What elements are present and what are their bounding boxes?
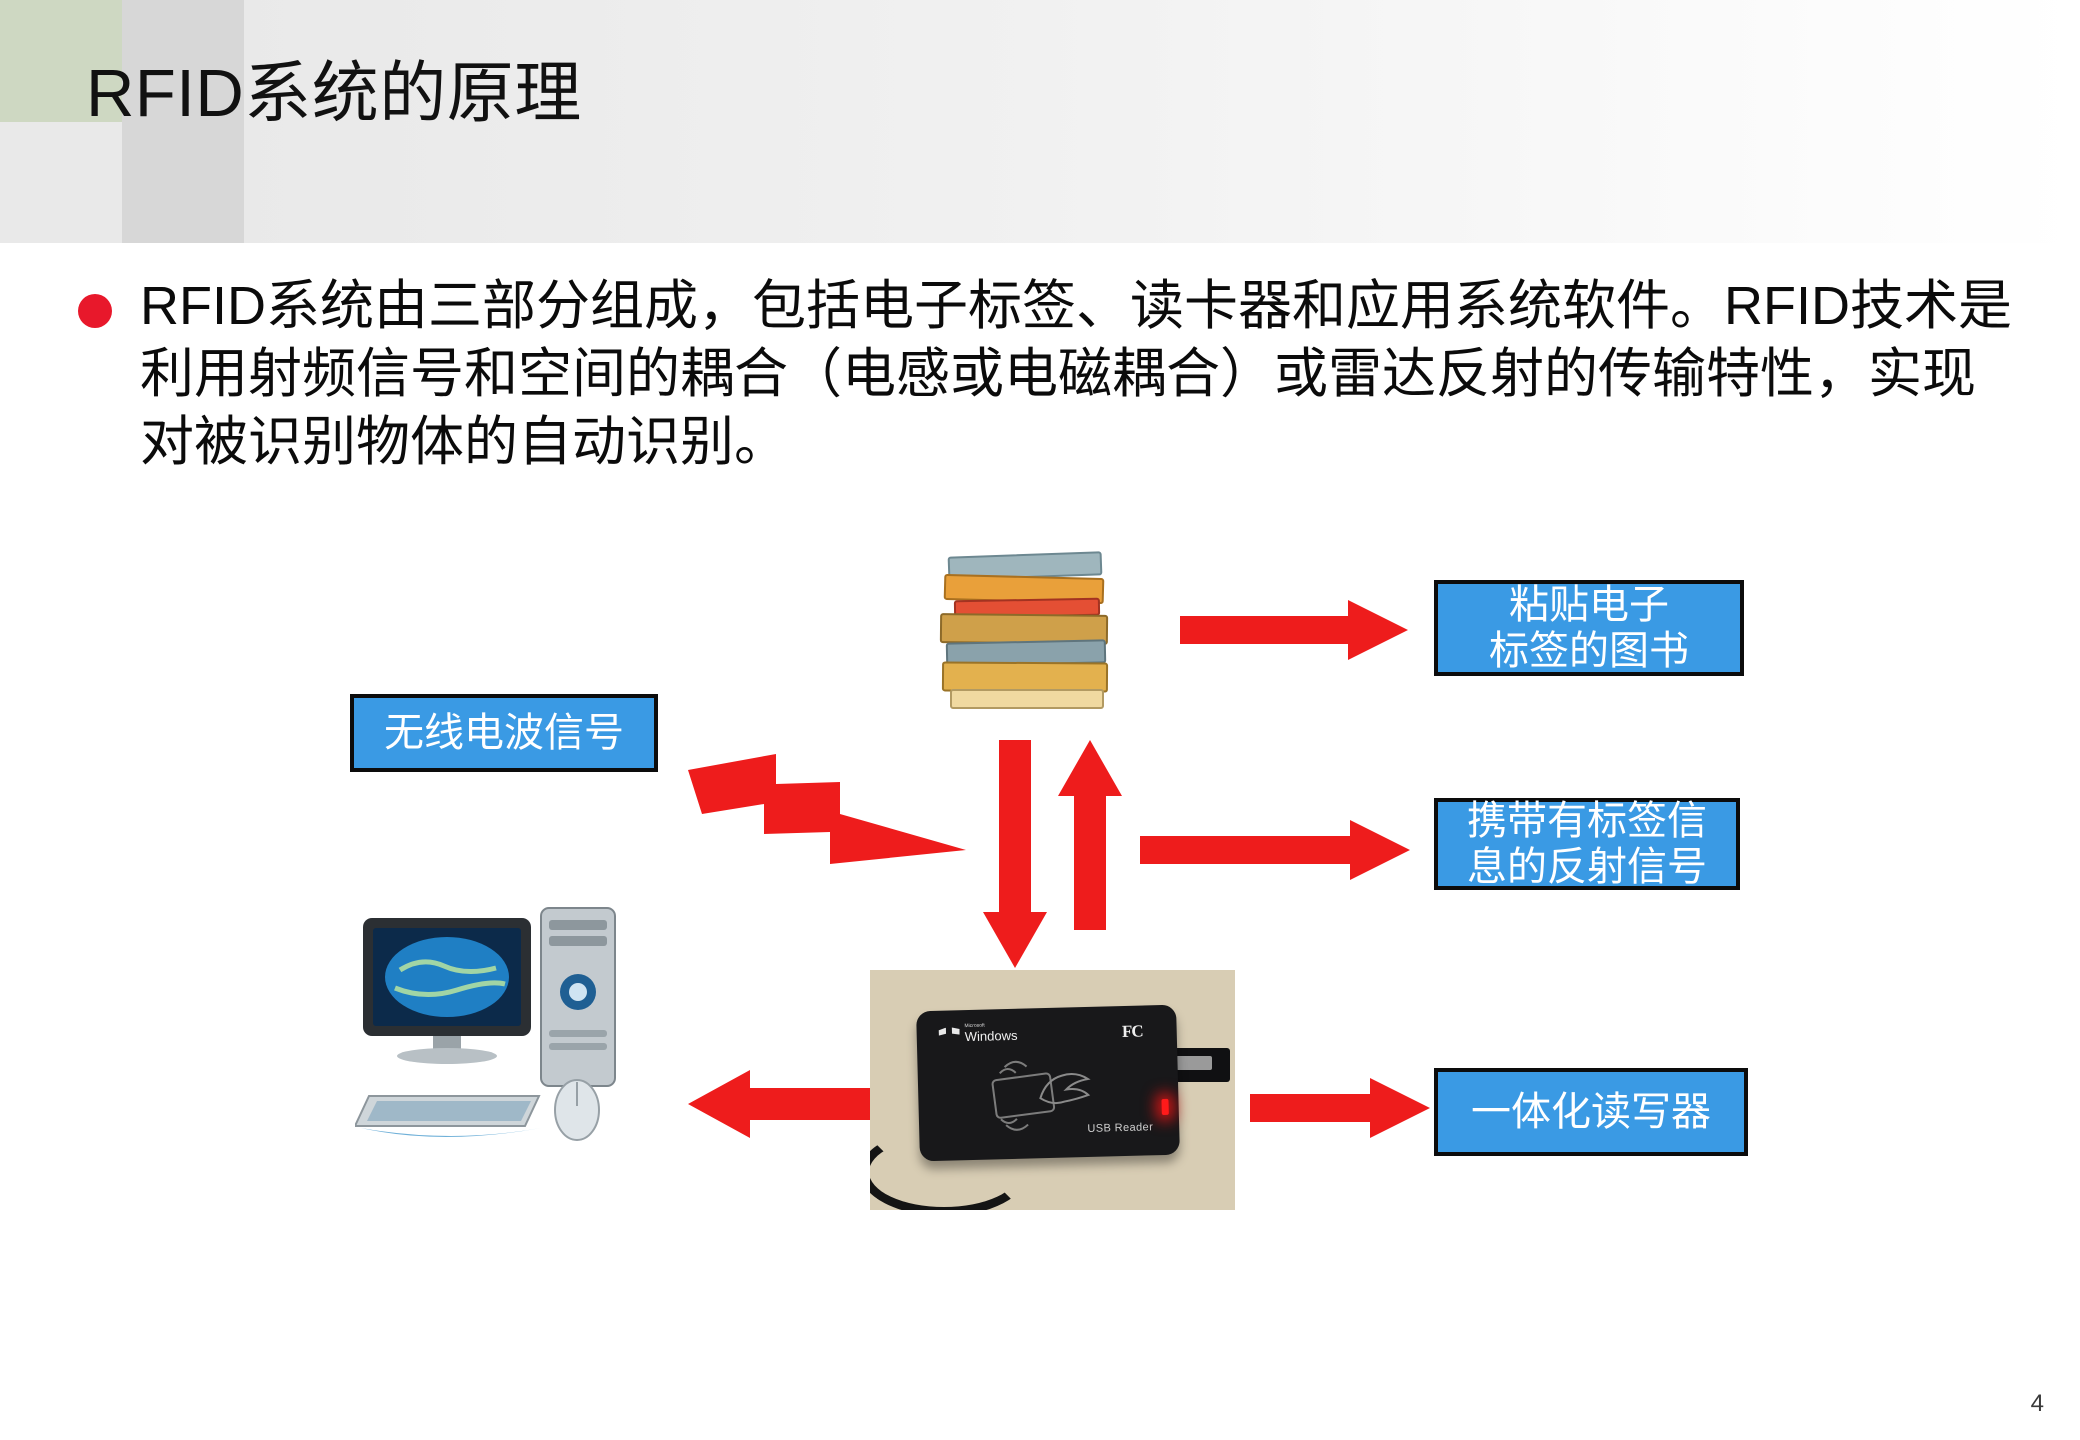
usb-rfid-reader-photo: Microsoft Windows FC USB Reader <box>870 970 1235 1210</box>
bullet-text-block: RFID系统由三部分组成，包括电子标签、读卡器和应用系统软件。RFID技术是 利… <box>140 272 2012 476</box>
windows-logo-icon: Microsoft Windows <box>938 1023 1017 1045</box>
label-line: 一体化读写器 <box>1471 1089 1711 1135</box>
label-line: 携带有标签信 <box>1467 798 1707 844</box>
bullet-paragraph: RFID系统由三部分组成，包括电子标签、读卡器和应用系统软件。RFID技术是 利… <box>78 272 2018 476</box>
bullet-line-3: 对被识别物体的自动识别。 <box>140 408 2012 476</box>
page-title: RFID系统的原理 <box>86 60 582 127</box>
windows-flag-right-icon <box>944 1027 960 1041</box>
rfid-card-hand-icon <box>987 1050 1109 1133</box>
book-7 <box>950 689 1104 709</box>
arrow-wave-bent <box>680 730 970 890</box>
fcc-mark: FC <box>1122 1022 1143 1043</box>
computer-image <box>355 900 655 1150</box>
label-radio-wave-signal[interactable]: 无线电波信号 <box>350 694 658 772</box>
label-integrated-reader[interactable]: 一体化读写器 <box>1434 1068 1748 1156</box>
computer-svg <box>355 900 655 1150</box>
arrow-books-to-label <box>1180 600 1420 660</box>
label-line: 标签的图书 <box>1489 628 1689 674</box>
arrow-reader-to-computer <box>670 1068 890 1138</box>
label-reflected-signal[interactable]: 携带有标签信 息的反射信号 <box>1434 798 1740 890</box>
arrow-books-down <box>985 740 1045 970</box>
label-books-with-tags[interactable]: 粘贴电子 标签的图书 <box>1434 580 1744 676</box>
usb-plug <box>1170 1048 1230 1082</box>
header-lower-left-block <box>0 122 122 243</box>
label-line: 无线电波信号 <box>384 710 624 756</box>
bullet-dot-icon <box>78 294 112 328</box>
led-indicator <box>1161 1099 1168 1115</box>
arrow-reader-to-label <box>1250 1078 1450 1138</box>
bullet-line-1: RFID系统由三部分组成，包括电子标签、读卡器和应用系统软件。RFID技术是 <box>140 272 2012 340</box>
usb-reader-caption: USB Reader <box>1087 1121 1153 1135</box>
arrow-reflect-to-label <box>1140 818 1440 878</box>
page-number: 4 <box>2031 1390 2044 1418</box>
label-line: 息的反射信号 <box>1467 844 1707 890</box>
bullet-line-2: 利用射频信号和空间的耦合（电感或电磁耦合）或雷达反射的传输特性，实现 <box>140 340 2012 408</box>
windows-text: Windows <box>965 1028 1018 1044</box>
book-6 <box>942 661 1108 692</box>
windows-brand-text: Microsoft Windows <box>964 1023 1017 1044</box>
arrow-reader-up <box>1060 740 1120 930</box>
books-image <box>940 552 1120 712</box>
label-line: 粘贴电子 <box>1509 582 1669 628</box>
